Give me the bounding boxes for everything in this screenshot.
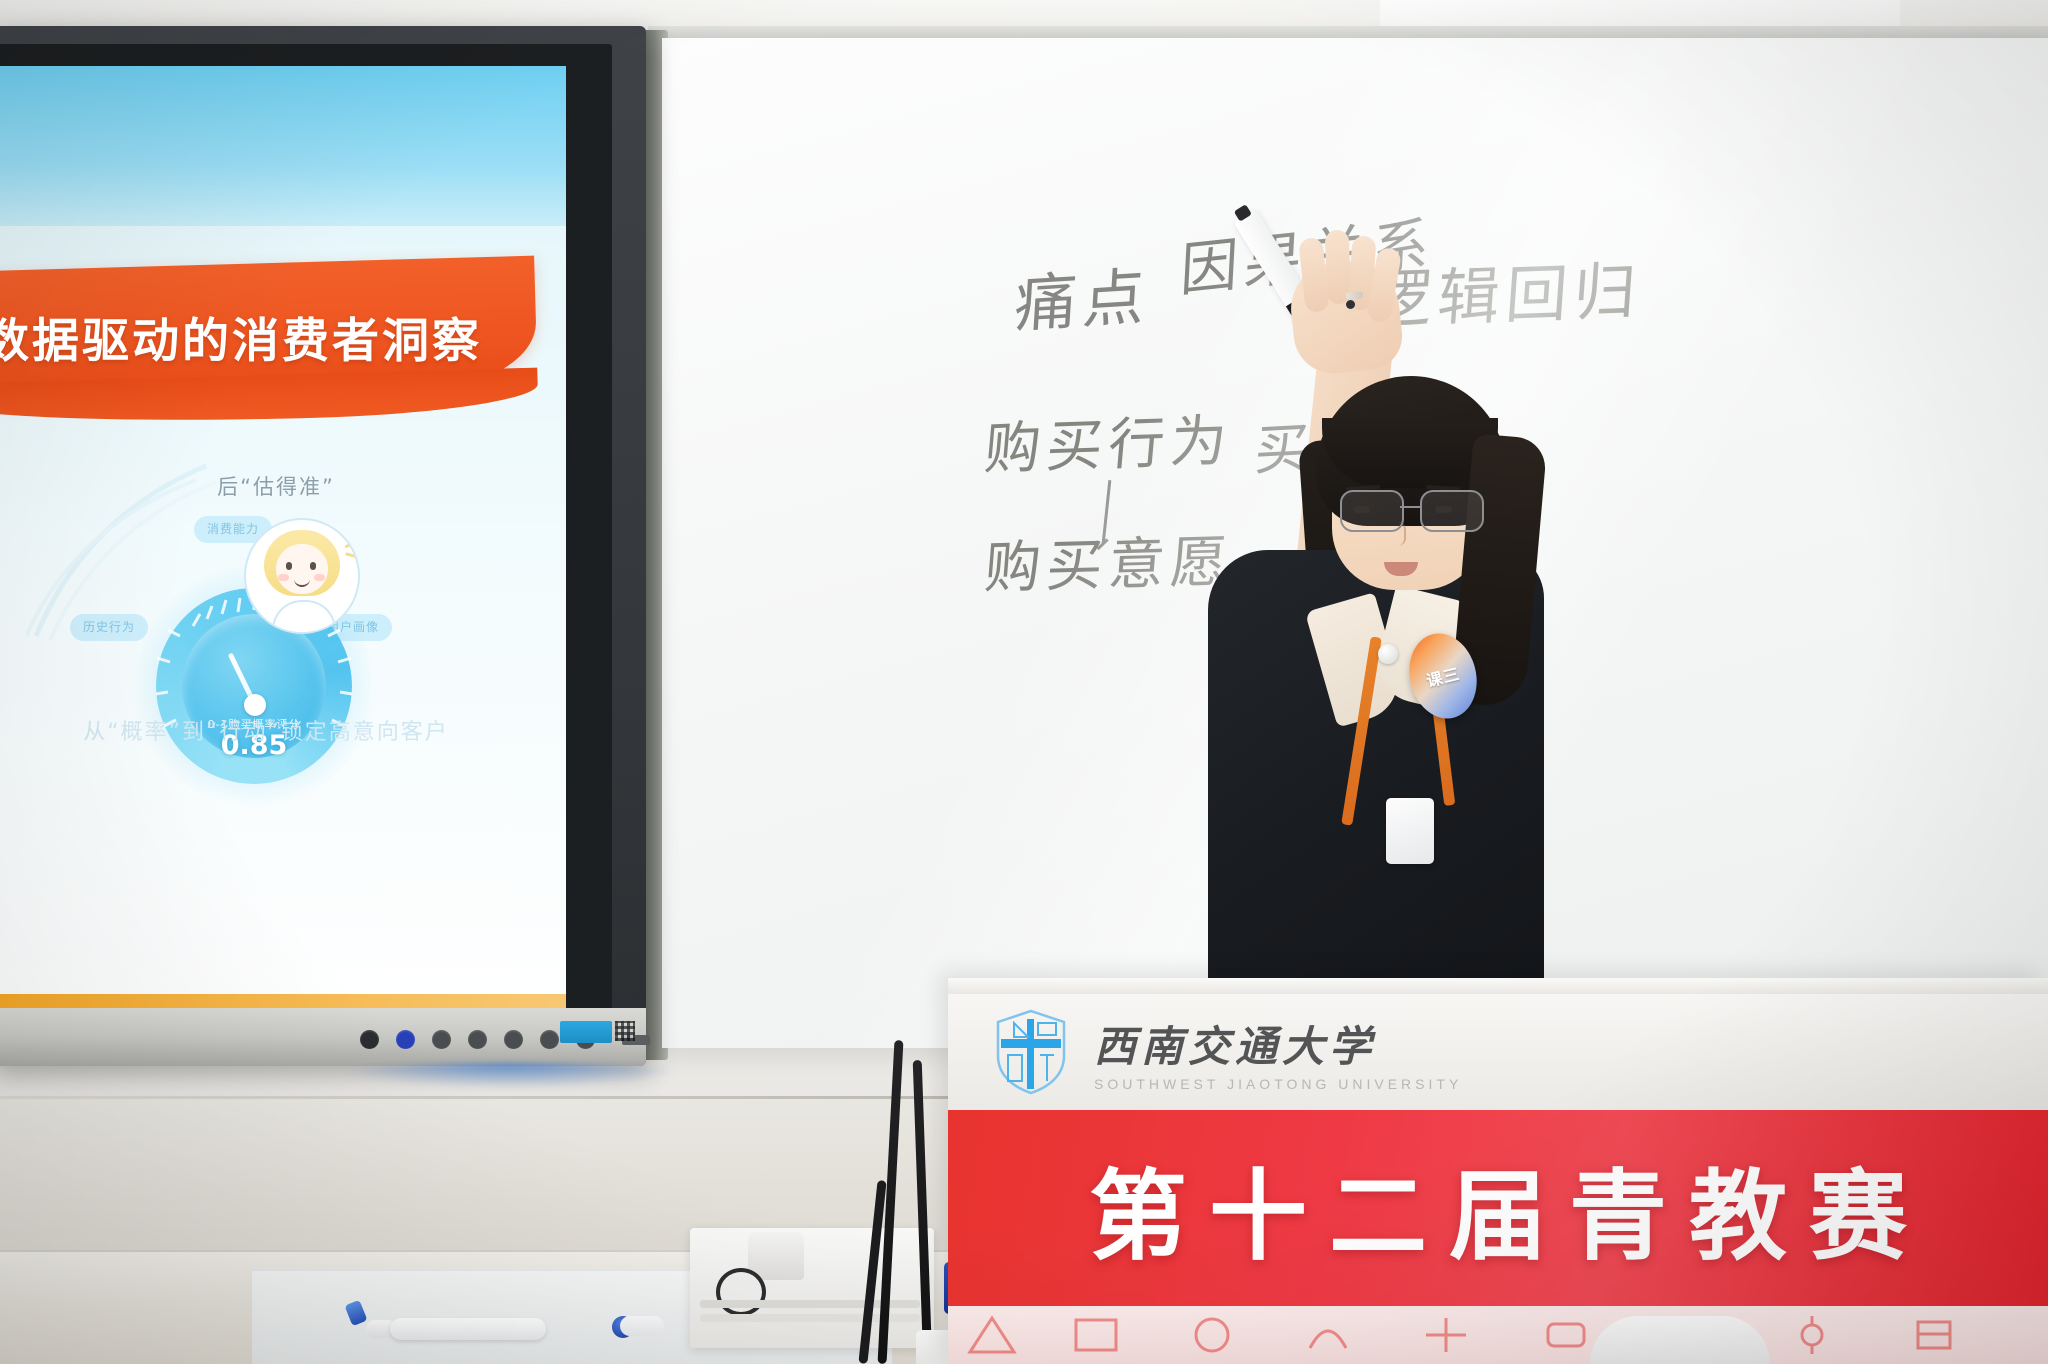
presenter: 课三: [1150, 300, 1570, 1080]
slide-title: 数据驱动的消费者洞察: [0, 302, 542, 371]
slide-subtitle: 后“估得准”: [116, 471, 436, 501]
panel-label-sticker: [560, 1021, 612, 1043]
motif-icon-5: [1418, 1312, 1474, 1358]
handwriting-line1-a: 痛点: [1012, 246, 1153, 345]
motif-icon-4: [1300, 1312, 1356, 1358]
motif-icon-8: [1784, 1312, 1840, 1358]
banner-decorative-strip: [948, 1306, 2048, 1364]
university-shield-icon: [994, 1009, 1068, 1095]
mascot-blush-right: [314, 574, 325, 581]
slide-caption: 从“概率”到“行动”锁定高意向客户: [26, 714, 506, 746]
qr-code-icon: [615, 1021, 635, 1041]
mascot-blush-left: [278, 574, 289, 581]
motif-icon-1: [964, 1312, 1020, 1358]
desk-blue-marker[interactable]: [620, 1316, 664, 1336]
desk-whiteboard-marker[interactable]: [390, 1318, 546, 1340]
podium-top-edge: [948, 978, 2048, 994]
panel-screen[interactable]: 数据驱动的消费者洞察 后“估得准” 消费能力 历史行为 用户画像: [0, 66, 566, 1016]
nose: [1394, 522, 1406, 546]
gauge-hub: [244, 694, 266, 716]
university-name-cn: 西南交通大学: [1094, 1013, 1462, 1074]
glasses-bridge: [1400, 506, 1420, 508]
panel-led-glow: [330, 1063, 690, 1089]
menu-button-icon[interactable]: [432, 1030, 451, 1049]
podium-logo-bar: 西南交通大学 Southwest Jiaotong University: [948, 994, 2048, 1110]
jacket-button-icon: [1346, 300, 1355, 309]
lens-right: [1420, 490, 1484, 532]
slide-mascot-avatar: [244, 518, 360, 634]
competition-banner: 第十二届青教赛: [948, 1110, 2048, 1306]
motif-icon-2: [1068, 1312, 1124, 1358]
slide-sky-band: [0, 66, 566, 246]
power-button-icon[interactable]: [360, 1030, 379, 1049]
finger-ring-jewelry: [1346, 291, 1363, 299]
mascot-body: [272, 600, 336, 634]
volume-up-button-icon[interactable]: [504, 1030, 523, 1049]
lapel-pin-icon: [1378, 644, 1398, 664]
mascot-eye-right: [310, 562, 316, 570]
id-badge-card: [1386, 798, 1434, 864]
home-button-icon[interactable]: [396, 1030, 415, 1049]
university-name-en: Southwest Jiaotong University: [1094, 1076, 1462, 1092]
eyeglasses-icon: [1340, 490, 1482, 530]
university-name-block: 西南交通大学 Southwest Jiaotong University: [1094, 1013, 1462, 1092]
foreground-white-object: [1590, 1316, 1770, 1364]
competition-banner-title: 第十二届青教赛: [1067, 1137, 1929, 1279]
motif-icon-9: [1906, 1312, 1962, 1358]
interactive-flat-panel[interactable]: 数据驱动的消费者洞察 后“估得准” 消费能力 历史行为 用户画像: [0, 26, 646, 1066]
volume-down-button-icon[interactable]: [468, 1030, 487, 1049]
motif-icon-3: [1184, 1312, 1240, 1358]
mascot-eye-left: [286, 562, 292, 570]
visualizer-lens-icon: [716, 1268, 766, 1316]
source-button-icon[interactable]: [540, 1030, 559, 1049]
motif-icon-6: [1538, 1312, 1594, 1358]
classroom-scene: 痛点 因果关系 逻辑回归 购买行为 买？不买 购买意愿 数据驱动的消费者洞察 后…: [0, 0, 2048, 1364]
